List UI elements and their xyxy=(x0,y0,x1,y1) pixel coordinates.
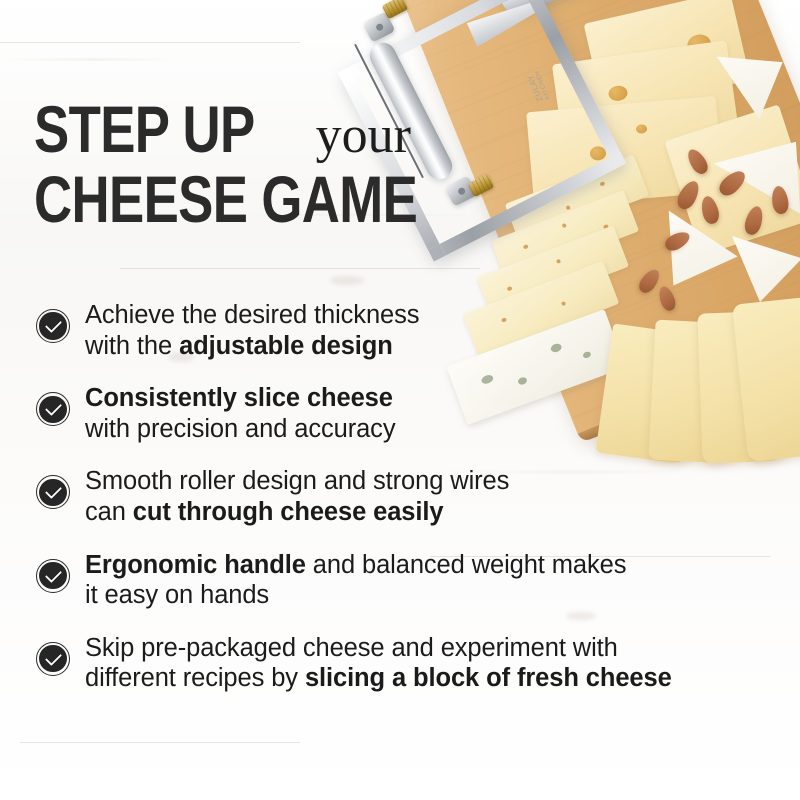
feature-text-roller: Smooth roller design and strong wires ca… xyxy=(85,466,509,527)
headline-line-1: STEP UP your xyxy=(34,98,513,162)
check-circle-icon xyxy=(36,559,70,593)
feature-line-2: with precision and accuracy xyxy=(85,415,395,443)
feature-line-2-bold: cut through cheese easily xyxy=(133,498,444,526)
grain-line xyxy=(20,742,300,743)
headline-step-up: STEP UP xyxy=(34,98,255,160)
feature-line-2-prefix: different recipes by xyxy=(85,664,305,692)
feature-text-fresh: Skip pre-packaged cheese and experiment … xyxy=(85,633,672,694)
feature-text-consistency: Consistently slice cheese with precision… xyxy=(85,383,395,444)
feature-line-1: Achieve the desired thickness xyxy=(85,301,419,329)
marketing-banner: ZULAY KITCHEN STEP UP your CHEESE GAME A… xyxy=(0,0,800,800)
feature-line-2: it easy on hands xyxy=(85,581,269,609)
feature-list: Achieve the desired thickness with the a… xyxy=(36,300,776,716)
check-circle-icon xyxy=(36,642,70,676)
headline-your: your xyxy=(316,110,411,162)
check-circle-icon xyxy=(36,309,70,343)
feature-line-2-prefix: can xyxy=(85,498,133,526)
list-item: Consistently slice cheese with precision… xyxy=(36,383,776,444)
headline-line-2: CHEESE GAME xyxy=(34,168,513,230)
feature-line-2-prefix: with the xyxy=(85,332,179,360)
feature-line-1-bold: Ergonomic handle xyxy=(85,551,306,579)
page-title: STEP UP your CHEESE GAME xyxy=(34,98,513,230)
headline-cheese-game: CHEESE GAME xyxy=(34,168,417,230)
feature-line-1: Smooth roller design and strong wires xyxy=(85,467,509,495)
check-circle-icon xyxy=(36,392,70,426)
grain-line xyxy=(0,42,300,43)
list-item: Achieve the desired thickness with the a… xyxy=(36,300,776,361)
feature-line-2-bold: slicing a block of fresh cheese xyxy=(305,664,672,692)
feature-text-thickness: Achieve the desired thickness with the a… xyxy=(85,300,419,361)
list-item: Skip pre-packaged cheese and experiment … xyxy=(36,633,776,694)
check-circle-icon xyxy=(36,475,70,509)
feature-line-1-bold: Consistently slice cheese xyxy=(85,384,393,412)
feature-line-1-tail: and balanced weight makes xyxy=(306,551,627,579)
feature-line-1: Skip pre-packaged cheese and experiment … xyxy=(85,634,618,662)
list-item: Ergonomic handle and balanced weight mak… xyxy=(36,550,776,611)
surface-scuff xyxy=(330,276,364,285)
list-item: Smooth roller design and strong wires ca… xyxy=(36,466,776,527)
feature-line-2-bold: adjustable design xyxy=(179,332,393,360)
feature-text-ergonomic: Ergonomic handle and balanced weight mak… xyxy=(85,550,626,611)
